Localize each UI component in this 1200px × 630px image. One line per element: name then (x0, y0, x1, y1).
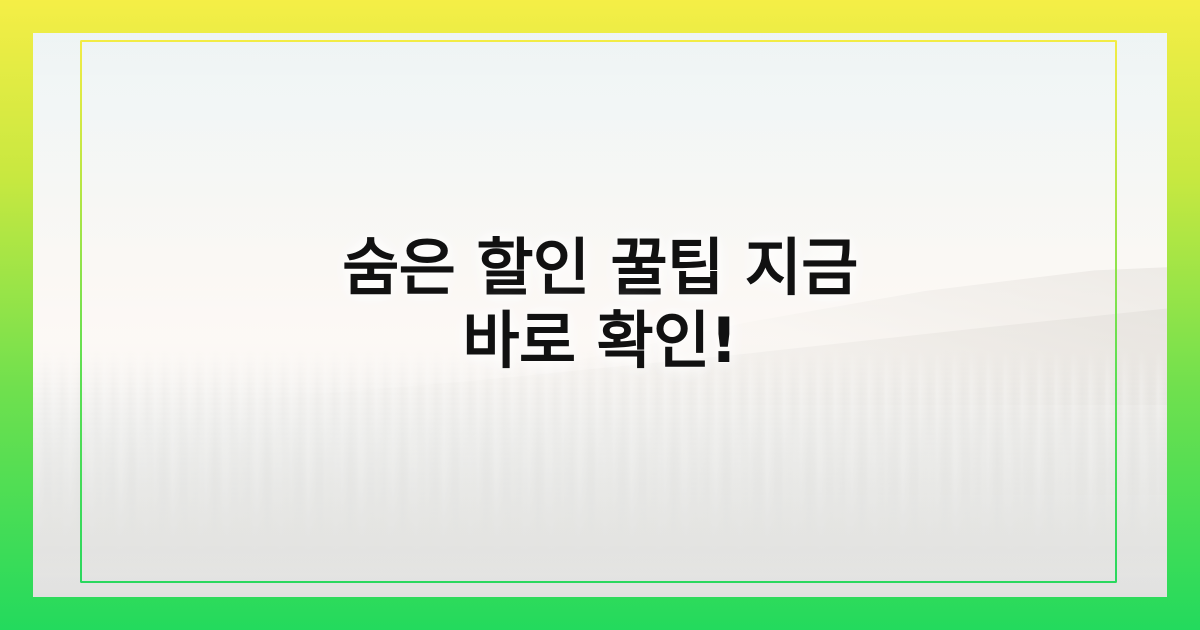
banner-content-panel: 숨은 할인 꿀팁 지금 바로 확인! (33, 33, 1167, 597)
promo-banner: 숨은 할인 꿀팁 지금 바로 확인! (0, 0, 1200, 630)
banner-headline: 숨은 할인 꿀팁 지금 바로 확인! (282, 231, 918, 377)
headline-line-2: 바로 확인! (342, 304, 858, 377)
headline-container: 숨은 할인 꿀팁 지금 바로 확인! (33, 33, 1167, 597)
headline-line-1: 숨은 할인 꿀팁 지금 (342, 231, 858, 304)
